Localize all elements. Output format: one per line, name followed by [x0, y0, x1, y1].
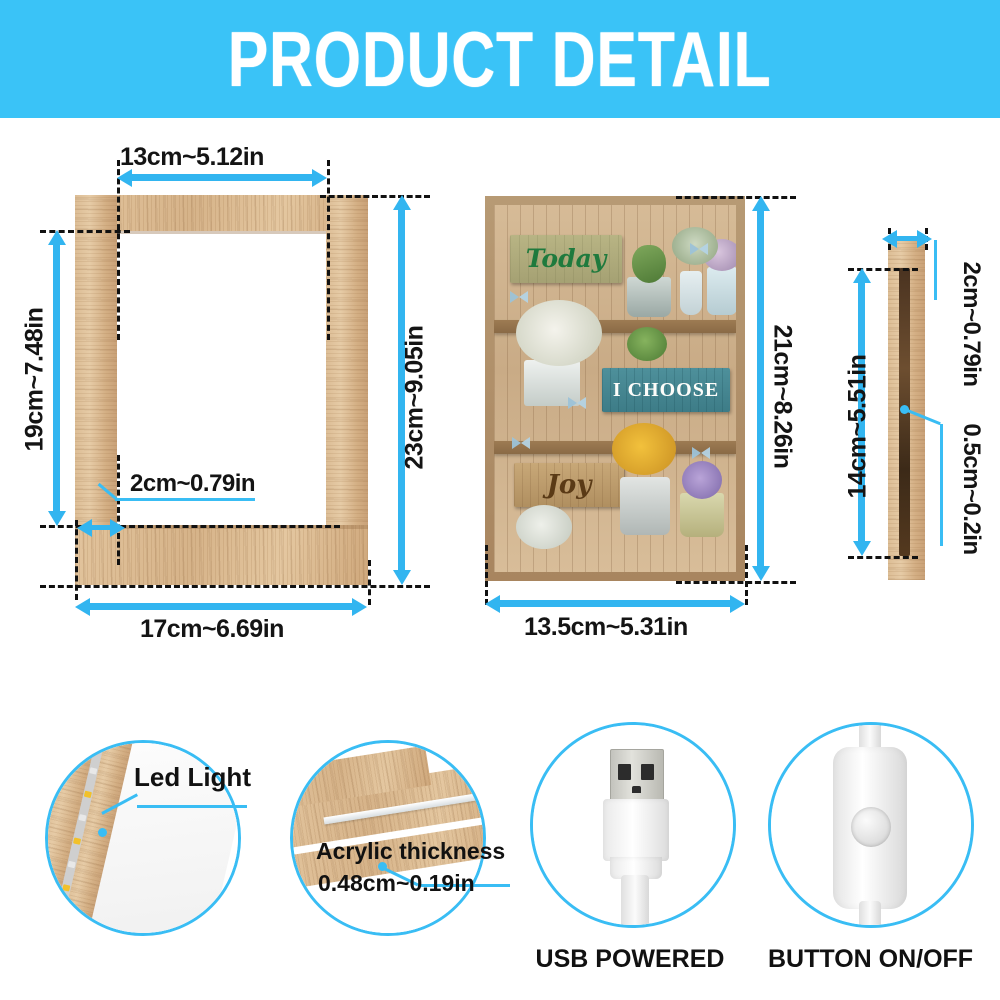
art-panel: Today I CHOOSE Joy [485, 196, 745, 581]
feature-circle-switch [768, 722, 974, 928]
guide-inner-right [327, 160, 330, 340]
dim-arrow-border [91, 525, 111, 530]
guide-border-right [117, 455, 120, 565]
art-butterfly-4 [690, 243, 708, 255]
guide-art-top [676, 196, 796, 199]
art-plant-succulent [632, 245, 666, 283]
dim-arrow-inner-height [53, 244, 60, 512]
guide-art-bottom [676, 581, 796, 584]
art-pitcher [620, 477, 670, 535]
art-scene: Today I CHOOSE Joy [494, 205, 736, 572]
callout-slot-line [940, 424, 943, 546]
dim-outer-height-label: 23cm~9.05in [401, 323, 430, 473]
dim-arrow-art-height [757, 210, 764, 567]
dim-arrow-side-depth [896, 236, 918, 241]
usb-cable [621, 875, 649, 928]
usb-powered-caption: USB POWERED [530, 945, 730, 974]
guide-inner-left [117, 160, 120, 340]
dim-inner-width-label: 13cm~5.12in [120, 143, 264, 172]
button-on-off-caption: BUTTON ON/OFF [768, 945, 968, 974]
header-banner: PRODUCT DETAIL [0, 0, 1000, 118]
art-crocus-flowers [682, 461, 722, 499]
led-light-label: Led Light [134, 762, 251, 793]
art-sign-today-text: Today [510, 235, 622, 283]
dim-side-depth-label: 2cm~0.79in [957, 244, 985, 404]
dim-arrow-outer-width [89, 603, 353, 610]
guide-art-right [745, 545, 748, 605]
art-bottom-flowers [516, 505, 572, 549]
callout-led-line [137, 805, 247, 808]
art-sign-joy-text: Joy [514, 463, 624, 507]
art-sign-joy: Joy [514, 463, 624, 507]
callout-border-line [115, 498, 255, 501]
dim-art-height-label: 21cm~8.26in [768, 317, 797, 477]
usb-connector-body [603, 799, 669, 861]
art-butterfly-1 [510, 291, 528, 303]
dim-outer-width-label: 17cm~6.69in [140, 615, 284, 644]
art-sign-choose-text: I CHOOSE [602, 368, 730, 412]
dim-border-label: 2cm~0.79in [130, 470, 255, 498]
dim-side-slot-height-label: 14cm~5.51in [844, 347, 873, 507]
art-sign-choose: I CHOOSE [602, 368, 730, 412]
art-vase-slim [680, 271, 702, 315]
art-white-flowers [516, 300, 602, 366]
dim-art-width-label: 13.5cm~5.31in [524, 613, 688, 642]
art-butterfly-2 [568, 397, 586, 409]
art-mason-jar [707, 267, 736, 315]
feature-circle-usb [530, 722, 736, 928]
guide-outer-right [368, 560, 371, 605]
callout-side-depth [934, 240, 937, 300]
frame-inner-edge [117, 231, 326, 234]
usb-connector-metal [610, 749, 664, 803]
dim-arrow-art-width [499, 600, 731, 607]
page-title: PRODUCT DETAIL [228, 20, 772, 98]
switch-cable-bottom [859, 901, 881, 928]
art-hanging-vine [627, 327, 667, 361]
art-butterfly-3 [512, 437, 530, 449]
dim-arrow-inner-width [131, 174, 313, 181]
art-pot-succulent [627, 277, 671, 317]
switch-push-button[interactable] [851, 807, 891, 847]
dim-side-slot-width-label: 0.5cm~0.2in [957, 409, 985, 569]
acrylic-thickness-value: 0.48cm~0.19in [318, 870, 475, 897]
product-detail-infographic: PRODUCT DETAIL 13cm~5.12in 19cm~7.48in 2… [0, 0, 1000, 1000]
art-crocus-pot [680, 493, 724, 537]
guide-outer-bottom [40, 585, 430, 588]
art-sunflowers [612, 423, 676, 475]
guide-outer-top [320, 195, 430, 198]
frame-right-stile [326, 195, 368, 550]
art-butterfly-5 [692, 447, 710, 459]
art-sign-today: Today [510, 235, 622, 283]
callout-led-dot [98, 828, 107, 837]
acrylic-thickness-label: Acrylic thickness [316, 838, 505, 865]
guide-side-slot-bottom [848, 556, 918, 559]
dim-inner-height-label: 19cm~7.48in [21, 305, 50, 455]
